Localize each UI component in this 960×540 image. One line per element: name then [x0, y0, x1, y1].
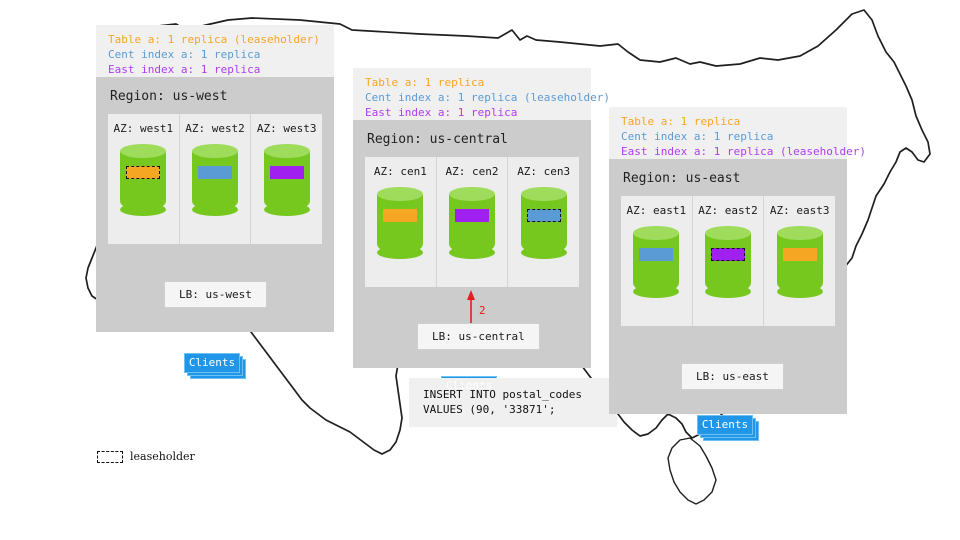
cylinder-top: [449, 187, 495, 201]
region-cluster-us-east: Table a: 1 replica Cent index a: 1 repli…: [609, 107, 847, 414]
node-cylinder-west3[interactable]: [264, 144, 310, 216]
clients-label: Clients: [184, 353, 240, 373]
az-cell-east3[interactable]: AZ: east3: [764, 196, 835, 326]
replica-bar-leaseholder: [126, 166, 160, 179]
region-title: Region: us-east: [609, 159, 847, 196]
replica-bar: [783, 248, 817, 261]
replica-bar: [455, 209, 489, 222]
legend-line-east-index: East index a: 1 replica: [108, 62, 324, 77]
cylinder-top: [192, 144, 238, 158]
az-row-us-west: AZ: west1 AZ: west2: [108, 114, 322, 244]
az-label: AZ: west2: [180, 122, 251, 135]
legend-line-cent-index: Cent index a: 1 replica (leaseholder): [365, 90, 581, 105]
region-title: Region: us-central: [353, 120, 591, 157]
clients-stack-us-central[interactable]: Clients: [441, 376, 499, 398]
load-balancer-us-west[interactable]: LB: us-west: [164, 281, 267, 308]
node-cylinder-cen2[interactable]: [449, 187, 495, 259]
cylinder-body: [521, 194, 567, 254]
legend-line-table: Table a: 1 replica (leaseholder): [108, 32, 324, 47]
az-cell-cen3[interactable]: AZ: cen3: [508, 157, 579, 287]
load-balancer-us-central[interactable]: LB: us-central: [417, 323, 540, 350]
legend-line-east-index: East index a: 1 replica: [365, 105, 581, 120]
replica-bar: [639, 248, 673, 261]
leaseholder-key-label: leaseholder: [130, 450, 195, 463]
leaseholder-key: leaseholder: [97, 450, 195, 463]
node-cylinder-east1[interactable]: [633, 226, 679, 298]
clients-stack-us-west[interactable]: Clients: [184, 353, 242, 375]
cylinder-body: [705, 233, 751, 293]
region-cluster-us-west: Table a: 1 replica (leaseholder) Cent in…: [96, 25, 334, 332]
region-cluster-us-central: Table a: 1 replica Cent index a: 1 repli…: [353, 68, 591, 368]
clients-label: Clients: [697, 415, 753, 435]
cylinder-top: [120, 144, 166, 158]
cylinder-top: [521, 187, 567, 201]
legend-line-cent-index: Cent index a: 1 replica: [108, 47, 324, 62]
region-title: Region: us-west: [96, 77, 334, 114]
cylinder-top: [264, 144, 310, 158]
cylinder-top: [777, 226, 823, 240]
node-cylinder-cen3[interactable]: [521, 187, 567, 259]
node-cylinder-east3[interactable]: [777, 226, 823, 298]
az-cell-west2[interactable]: AZ: west2: [180, 114, 252, 244]
az-label: AZ: east3: [764, 204, 835, 217]
replica-legend-us-west: Table a: 1 replica (leaseholder) Cent in…: [96, 25, 334, 77]
cylinder-top: [633, 226, 679, 240]
cylinder-top: [705, 226, 751, 240]
cylinder-body: [192, 151, 238, 211]
replica-bar: [270, 166, 304, 179]
az-label: AZ: east1: [621, 204, 692, 217]
diagram-canvas: Table a: 1 replica (leaseholder) Cent in…: [0, 0, 960, 540]
region-panel-us-east: Region: us-east AZ: east1 AZ: east2: [609, 159, 847, 414]
cylinder-body: [377, 194, 423, 254]
clients-label: Clients: [441, 376, 497, 396]
legend-line-cent-index: Cent index a: 1 replica: [621, 129, 837, 144]
cylinder-top: [377, 187, 423, 201]
az-label: AZ: west3: [251, 122, 322, 135]
cylinder-body: [449, 194, 495, 254]
arrow-label-2: 2: [479, 304, 486, 317]
replica-bar: [383, 209, 417, 222]
replica-bar: [198, 166, 232, 179]
node-cylinder-west1[interactable]: [120, 144, 166, 216]
az-cell-west1[interactable]: AZ: west1: [108, 114, 180, 244]
az-label: AZ: west1: [108, 122, 179, 135]
node-cylinder-east2[interactable]: [705, 226, 751, 298]
cylinder-body: [633, 233, 679, 293]
region-panel-us-west: Region: us-west AZ: west1 AZ: west2: [96, 77, 334, 332]
az-cell-cen2[interactable]: AZ: cen2: [437, 157, 509, 287]
replica-bar-leaseholder: [527, 209, 561, 222]
load-balancer-us-east[interactable]: LB: us-east: [681, 363, 784, 390]
az-cell-west3[interactable]: AZ: west3: [251, 114, 322, 244]
replica-legend-us-central: Table a: 1 replica Cent index a: 1 repli…: [353, 68, 591, 120]
legend-line-table: Table a: 1 replica: [621, 114, 837, 129]
az-cell-east2[interactable]: AZ: east2: [693, 196, 765, 326]
az-cell-cen1[interactable]: AZ: cen1: [365, 157, 437, 287]
node-cylinder-west2[interactable]: [192, 144, 238, 216]
az-cell-east1[interactable]: AZ: east1: [621, 196, 693, 326]
cylinder-body: [120, 151, 166, 211]
legend-line-table: Table a: 1 replica: [365, 75, 581, 90]
az-row-us-east: AZ: east1 AZ: east2: [621, 196, 835, 326]
az-label: AZ: cen1: [365, 165, 436, 178]
az-label: AZ: east2: [693, 204, 764, 217]
cylinder-body: [264, 151, 310, 211]
replica-bar-leaseholder: [711, 248, 745, 261]
az-row-us-central: AZ: cen1 AZ: cen2: [365, 157, 579, 287]
clients-stack-us-east[interactable]: Clients: [697, 415, 755, 437]
replica-legend-us-east: Table a: 1 replica Cent index a: 1 repli…: [609, 107, 847, 159]
az-label: AZ: cen3: [508, 165, 579, 178]
region-panel-us-central: Region: us-central AZ: cen1 AZ: cen2: [353, 120, 591, 368]
node-cylinder-cen1[interactable]: [377, 187, 423, 259]
legend-line-east-index: East index a: 1 replica (leaseholder): [621, 144, 837, 159]
cylinder-body: [777, 233, 823, 293]
az-label: AZ: cen2: [437, 165, 508, 178]
dashed-rect-icon: [97, 451, 123, 463]
